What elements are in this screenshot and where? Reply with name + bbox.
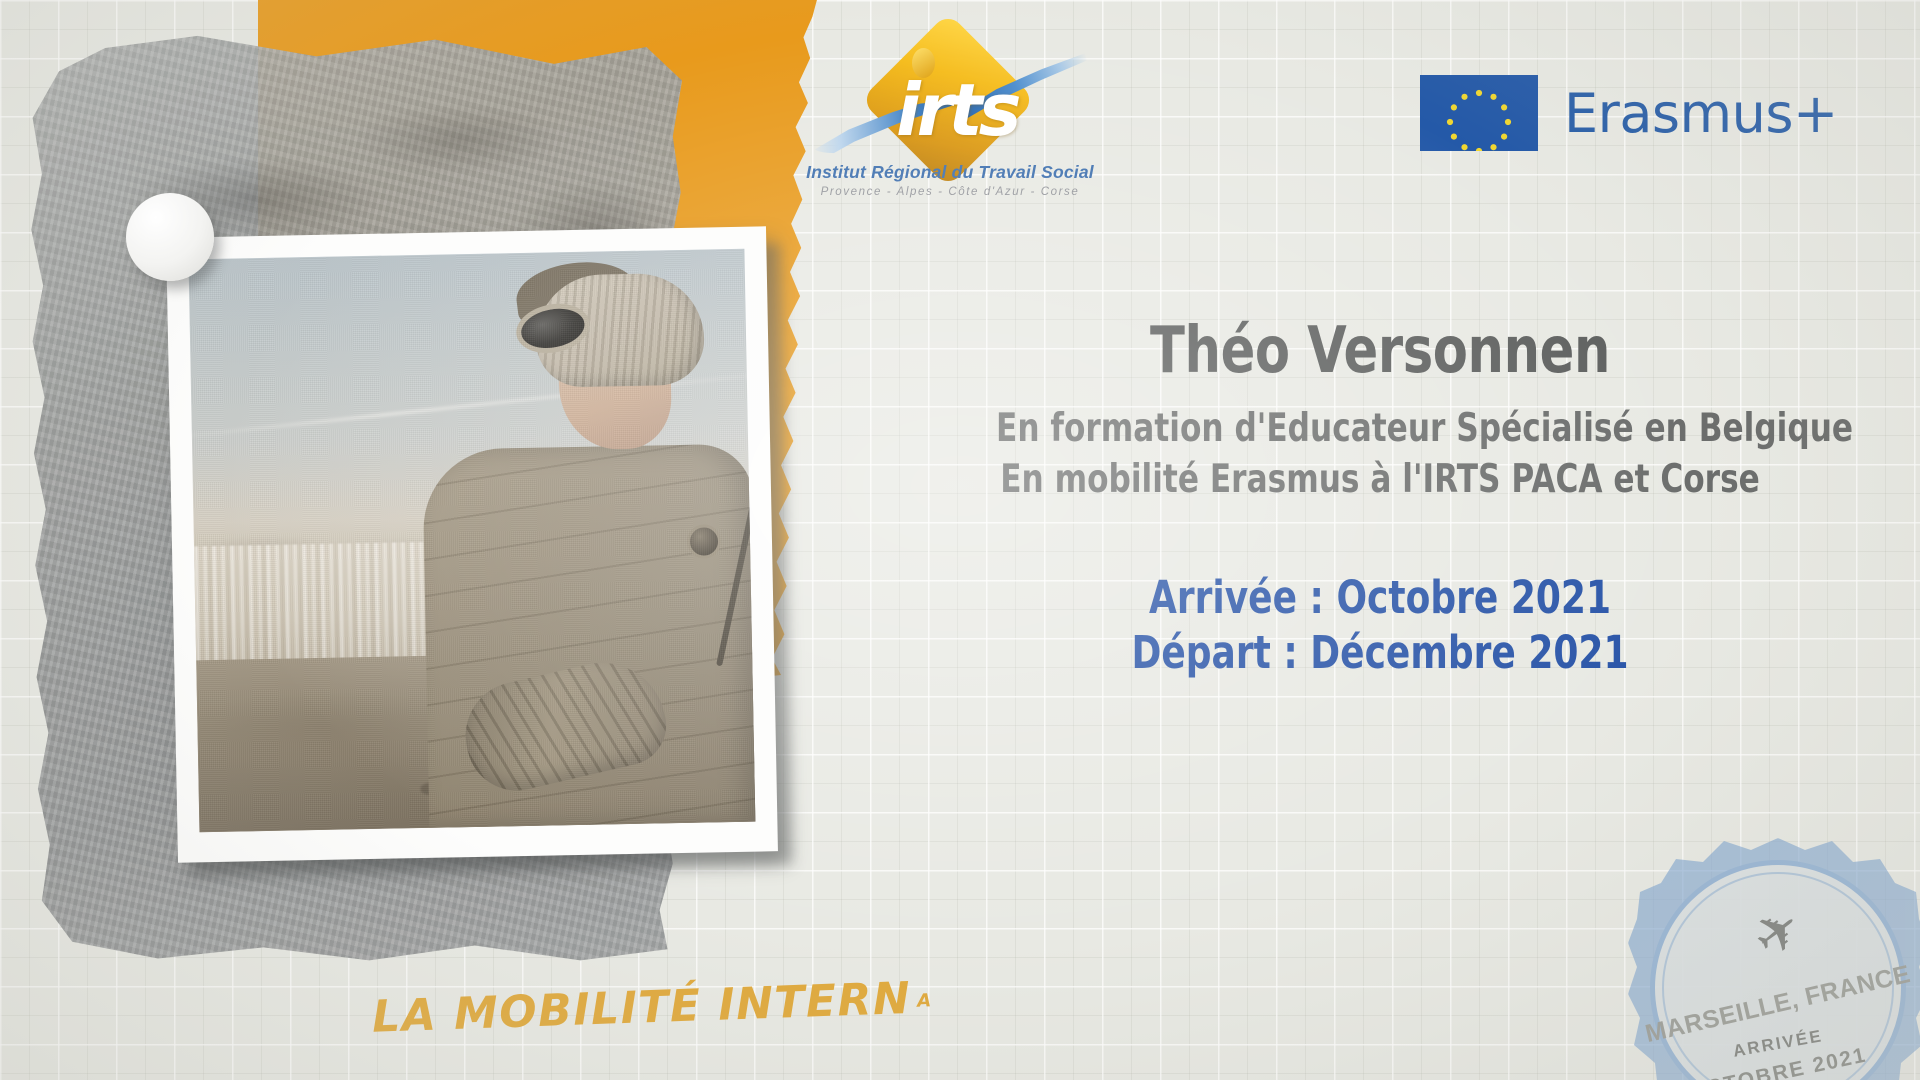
irts-subtitle-line2: Provence - Alpes - Côte d'Azur - Corse [800, 186, 1100, 198]
passport-stamp: ✈ MARSEILLE, FRANCE ARRIVÉE OCTOBRE 2021 [1628, 838, 1920, 1080]
irts-wordmark: irts [896, 74, 1017, 146]
profile-line1: En formation d'Educateur Spécialisé en B… [996, 404, 1764, 455]
departure-date: Départ : Décembre 2021 [996, 626, 1764, 681]
arrival-date: Arrivée : Octobre 2021 [996, 571, 1764, 626]
slide-canvas: irts Institut Régional du Travail Social… [0, 0, 1920, 1080]
erasmus-label: Erasmus+ [1564, 82, 1838, 145]
polaroid-photo-frame [166, 226, 778, 862]
profile-text-block: Théo Versonnen En formation d'Educateur … [900, 318, 1860, 681]
footer-title: LA MOBILITÉ INTERNA [371, 972, 933, 1043]
photo-image [188, 249, 755, 833]
eu-flag-icon [1420, 75, 1538, 151]
person-figure [422, 249, 755, 828]
profile-name: Théo Versonnen [996, 318, 1764, 386]
irts-logo: irts Institut Régional du Travail Social… [800, 36, 1100, 204]
footer-title-tail: A [917, 990, 933, 1012]
profile-line2: En mobilité Erasmus à l'IRTS PACA et Cor… [996, 455, 1764, 506]
profile-dates: Arrivée : Octobre 2021 Départ : Décembre… [900, 571, 1860, 681]
erasmus-logo: Erasmus+ [1420, 75, 1838, 151]
irts-subtitle-line1: Institut Régional du Travail Social [800, 162, 1100, 183]
photo-pin [126, 193, 214, 281]
footer-title-main: LA MOBILITÉ INTERN [371, 973, 912, 1043]
